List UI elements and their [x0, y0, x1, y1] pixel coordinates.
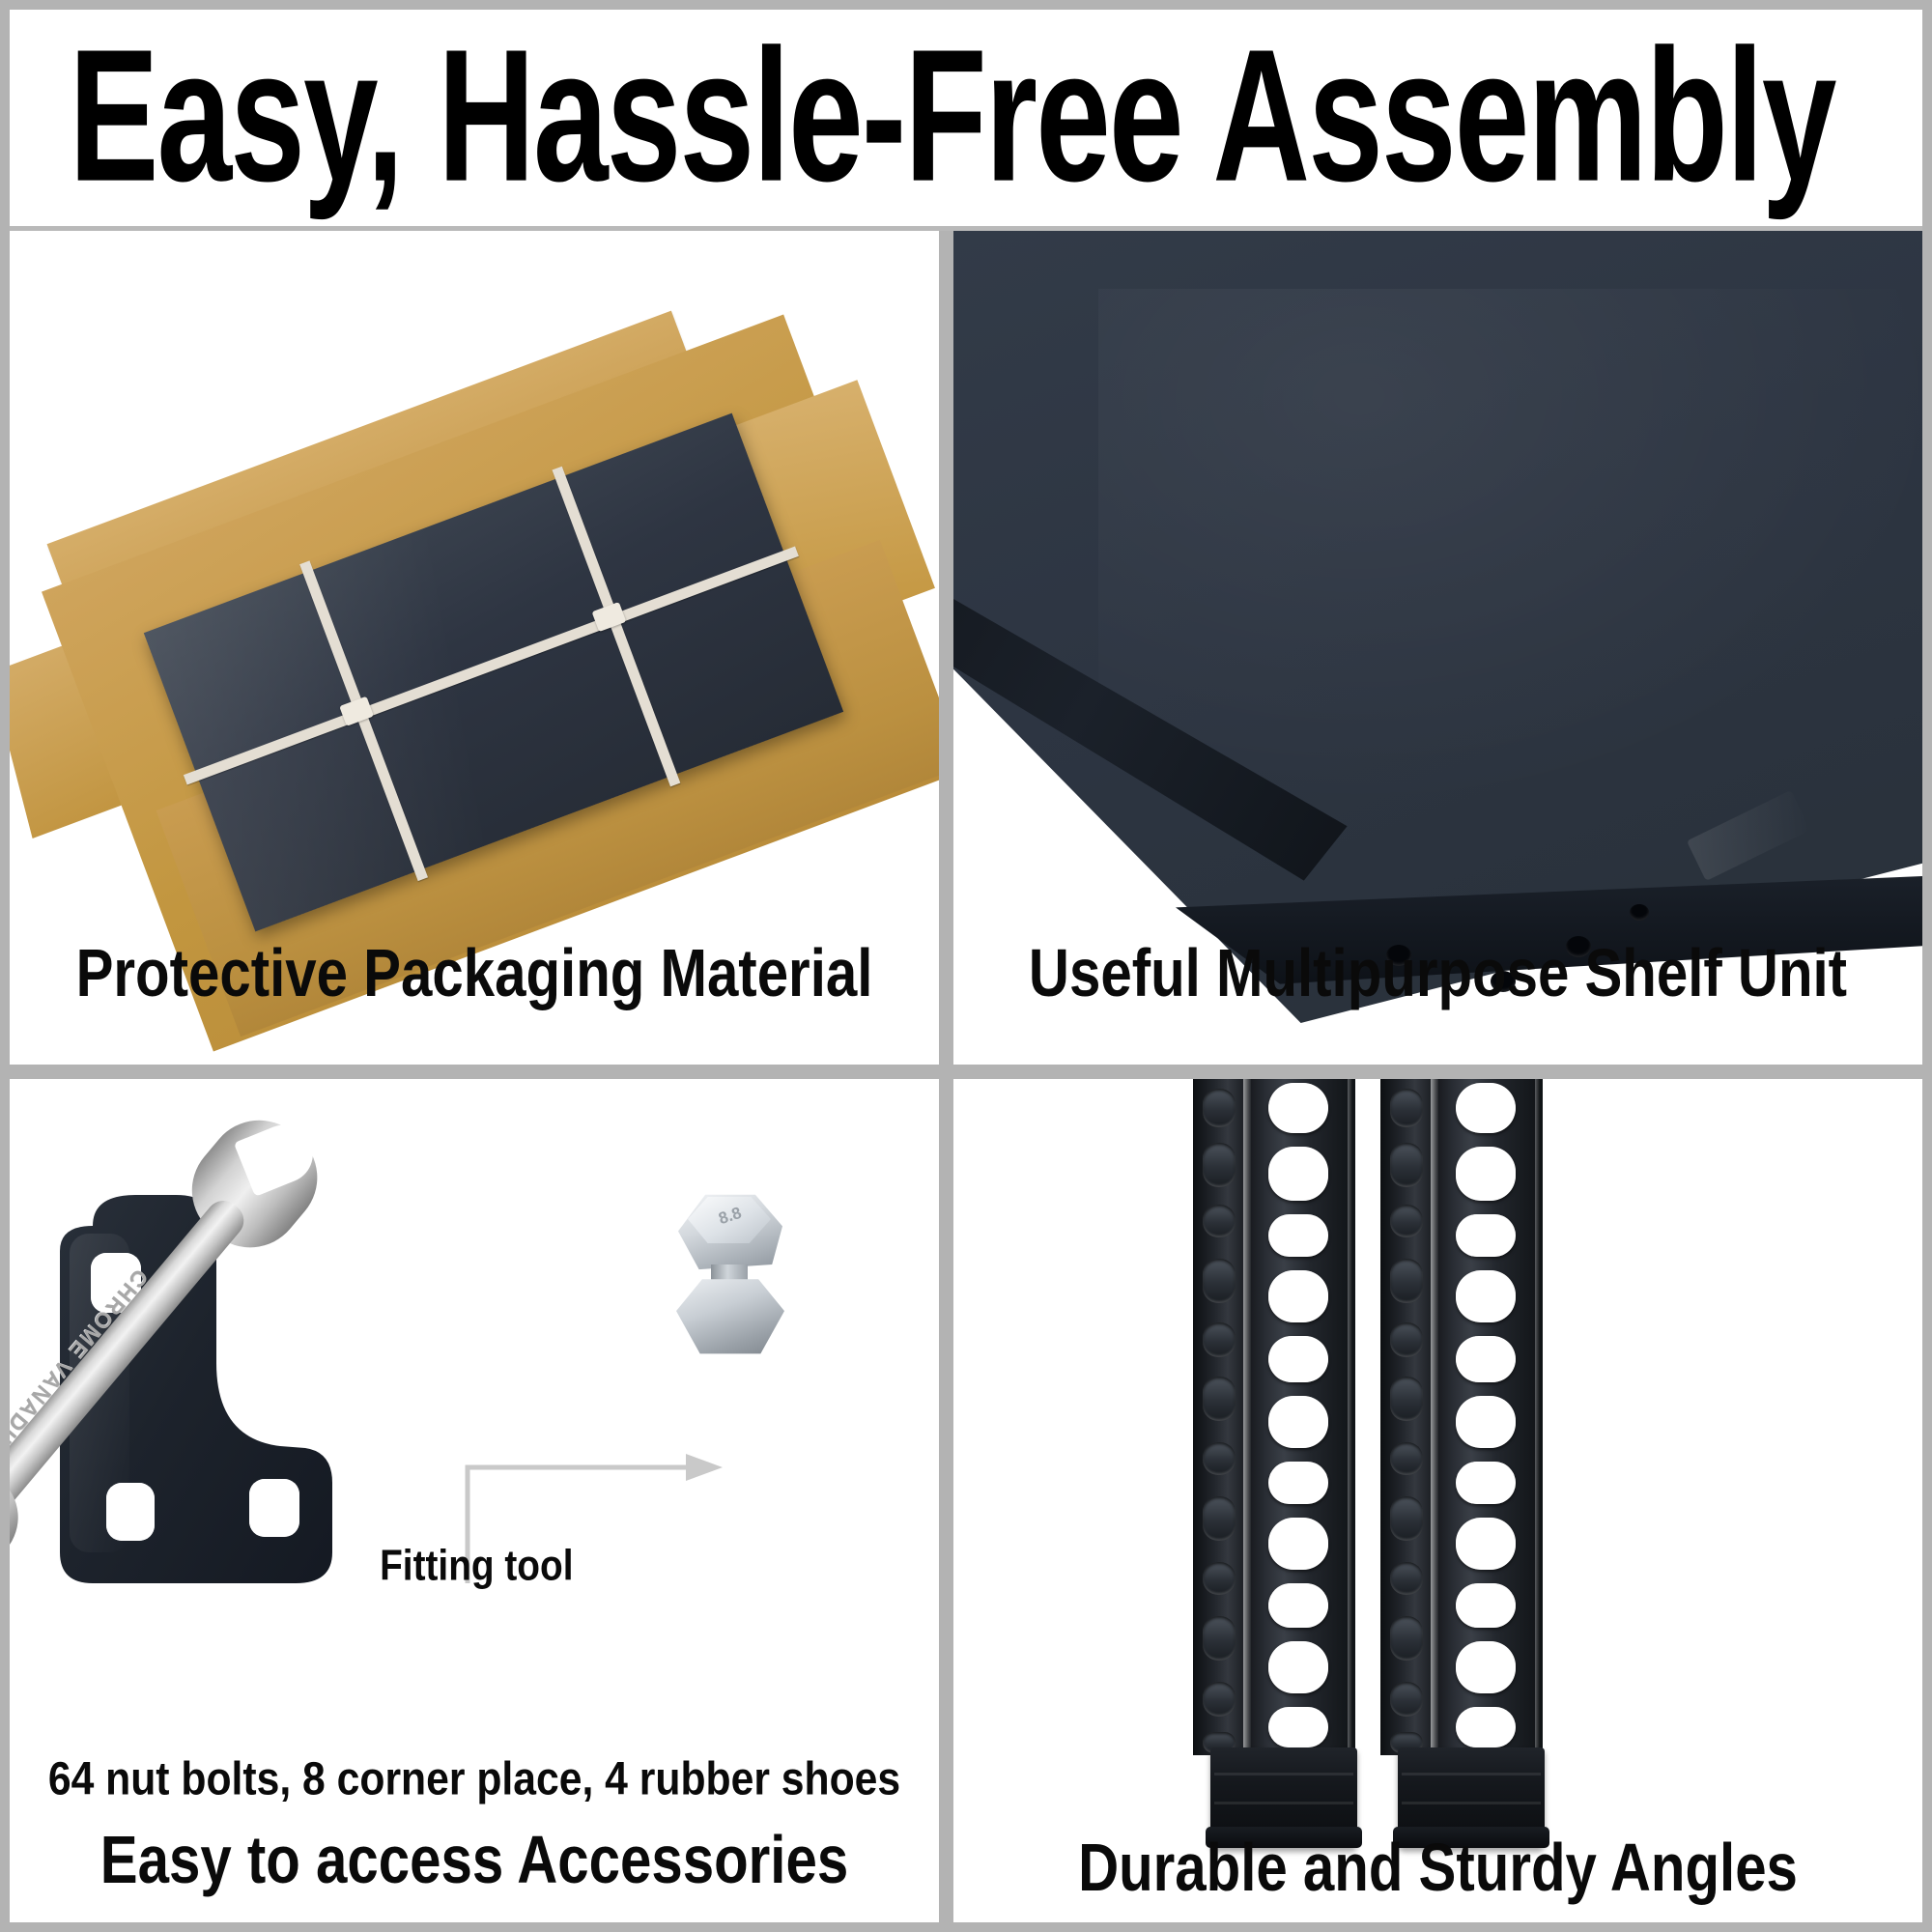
headline-band: Easy, Hassle-Free Assembly	[10, 10, 1922, 226]
post-slot-big	[1268, 1583, 1328, 1628]
board-hole-4	[1630, 904, 1649, 921]
post-slot-big	[1268, 1083, 1328, 1133]
fitting-tool-label: Fitting tool	[380, 1542, 573, 1590]
post-slot-small	[1390, 1682, 1423, 1717]
angle-post-left	[1193, 1079, 1355, 1823]
feature-cell-shelf-unit: Useful Multipurpose Shelf Unit	[953, 231, 1922, 1065]
post-slot-big	[1456, 1214, 1516, 1257]
post-slot-big	[1456, 1083, 1516, 1133]
post-slot-small	[1203, 1377, 1236, 1421]
post-slot-big	[1456, 1518, 1516, 1570]
foot-band	[1402, 1773, 1541, 1776]
post-slot-small	[1203, 1259, 1236, 1303]
caption-shelf-unit: Useful Multipurpose Shelf Unit	[968, 940, 1908, 1008]
post-slot-big	[1456, 1462, 1516, 1504]
post-slot-small	[1390, 1205, 1423, 1237]
post-slot-small	[1203, 1089, 1236, 1127]
post-slot-small	[1203, 1682, 1236, 1717]
post-slot-big	[1456, 1707, 1516, 1747]
post-slot-small	[1203, 1143, 1236, 1187]
post-slot-small	[1203, 1442, 1236, 1475]
feature-cell-angles: Durable and Sturdy Angles	[953, 1079, 1922, 1922]
post-slot-big	[1456, 1641, 1516, 1693]
post-slot-big	[1268, 1518, 1328, 1570]
page-title: Easy, Hassle-Free Assembly	[10, 21, 1835, 210]
feature-grid: Protective Packaging Material Useful Mul…	[10, 231, 1922, 1922]
post-slot-small	[1203, 1616, 1236, 1661]
post-slot-big	[1268, 1147, 1328, 1201]
post-slot-small	[1390, 1322, 1423, 1357]
foot-band	[1214, 1802, 1353, 1804]
post-slot-big	[1456, 1147, 1516, 1201]
feature-cell-packaging: Protective Packaging Material	[10, 231, 939, 1065]
product-infographic-poster: Easy, Hassle-Free Assembly	[0, 0, 1932, 1932]
post-slot-big	[1268, 1707, 1328, 1747]
hex-nut	[676, 1276, 784, 1355]
post-slot-big	[1456, 1336, 1516, 1382]
board-highlight	[1098, 289, 1922, 830]
post-slot-big	[1268, 1270, 1328, 1322]
corner-plate-slot-bottom-right	[249, 1479, 299, 1537]
post-slot-small	[1390, 1616, 1423, 1661]
post-slot-small	[1390, 1143, 1423, 1187]
post-slot-big	[1456, 1583, 1516, 1628]
post-corner-highlight	[1243, 1079, 1251, 1755]
caption-accessories: Easy to access Accessories	[23, 1827, 924, 1894]
post-slot-big	[1268, 1641, 1328, 1693]
feature-cell-accessories: CHROME VANADIUM 8.8	[10, 1079, 939, 1922]
post-slot-small	[1390, 1259, 1423, 1303]
post-edge-highlight	[1348, 1079, 1352, 1755]
post-slot-small	[1390, 1089, 1423, 1127]
post-slot-big	[1456, 1270, 1516, 1322]
foot-band	[1214, 1773, 1353, 1776]
caption-accessories-list: 64 nut bolts, 8 corner place, 4 rubber s…	[23, 1756, 924, 1803]
post-slot-big	[1268, 1462, 1328, 1504]
post-slot-small	[1203, 1562, 1236, 1595]
wrench-mouth-top	[234, 1117, 322, 1197]
hex-bolt-and-nut: 8.8	[672, 1193, 788, 1357]
post-slot-small	[1203, 1205, 1236, 1237]
angle-post-right	[1380, 1079, 1543, 1823]
post-slot-small	[1390, 1377, 1423, 1421]
post-slot-big	[1268, 1336, 1328, 1382]
post-slot-small	[1203, 1496, 1236, 1541]
grid-horizontal-divider	[10, 1065, 1922, 1079]
poster-canvas: Easy, Hassle-Free Assembly	[10, 10, 1922, 1922]
post-corner-highlight	[1431, 1079, 1438, 1755]
post-slot-small	[1390, 1496, 1423, 1541]
foot-band	[1402, 1802, 1541, 1804]
caption-angles: Durable and Sturdy Angles	[968, 1834, 1908, 1902]
corner-plate-slot-bottom-left	[106, 1483, 155, 1541]
post-slot-big	[1268, 1214, 1328, 1257]
post-slot-small	[1390, 1562, 1423, 1595]
caption-packaging: Protective Packaging Material	[23, 940, 924, 1008]
post-edge-highlight	[1535, 1079, 1540, 1755]
post-slot-big	[1268, 1396, 1328, 1448]
slotted-angle-posts-photo	[953, 1079, 1922, 1922]
post-slot-small	[1203, 1322, 1236, 1357]
post-slot-small	[1390, 1442, 1423, 1475]
post-slot-big	[1456, 1396, 1516, 1448]
